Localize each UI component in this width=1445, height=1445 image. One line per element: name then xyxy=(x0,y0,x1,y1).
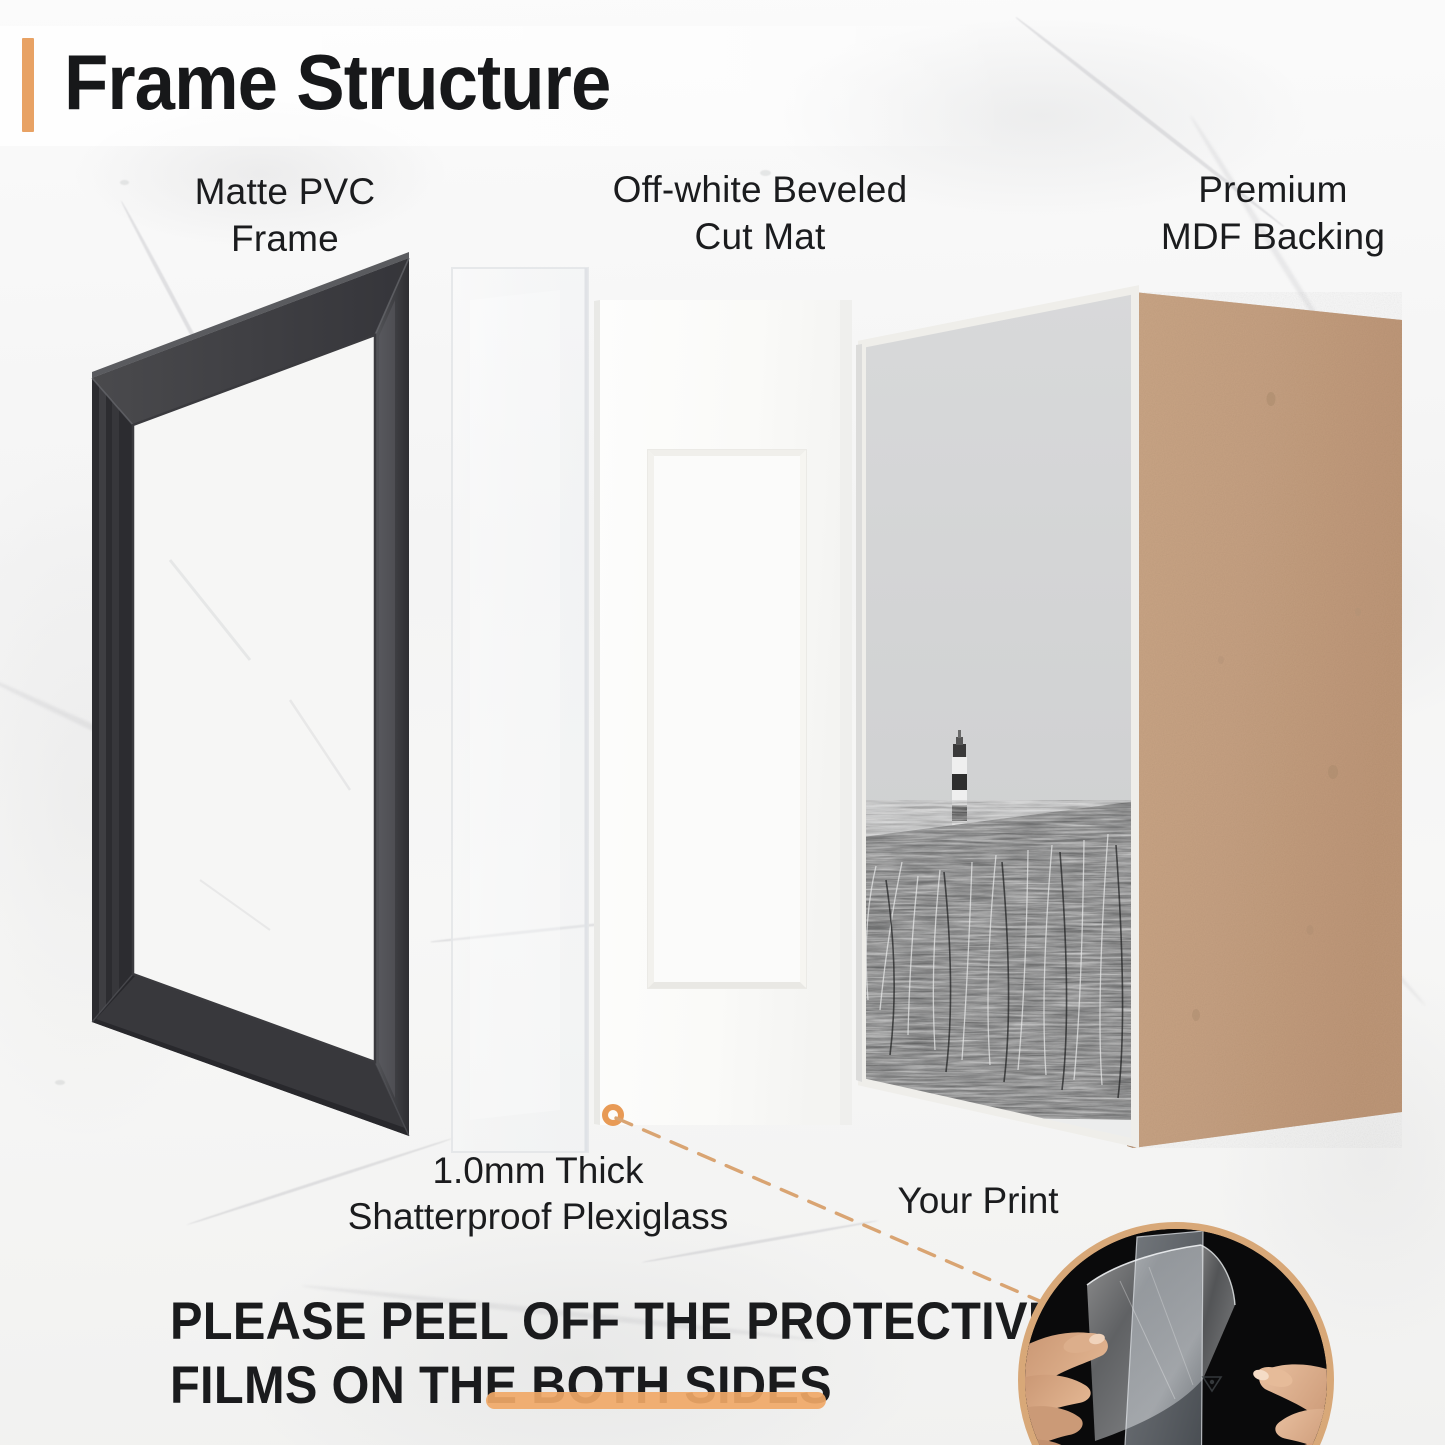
label-plexiglass: 1.0mm Thick Shatterproof Plexiglass xyxy=(278,1148,798,1240)
label-line-2: MDF Backing xyxy=(1108,213,1438,260)
label-line-1: Premium xyxy=(1108,166,1438,213)
product-infographic: Frame Structure Matte PVC Frame Off-whit… xyxy=(0,0,1445,1445)
layer-your-print xyxy=(855,280,1145,1170)
label-your-print: Your Print xyxy=(858,1178,1098,1224)
caption-line-1: PLEASE PEEL OFF THE PROTECTIVE xyxy=(170,1290,970,1354)
layer-cut-mat xyxy=(594,300,852,1125)
label-matte-pvc-frame: Matte PVC Frame xyxy=(140,168,430,262)
label-line-1: 1.0mm Thick xyxy=(278,1148,798,1194)
layer-mdf-backing xyxy=(1127,292,1402,1148)
label-line-1: Matte PVC xyxy=(140,168,430,215)
label-line-2: Shatterproof Plexiglass xyxy=(278,1194,798,1240)
layer-plexiglass xyxy=(452,268,588,1152)
page-title: Frame Structure xyxy=(64,30,610,134)
caption-highlight-underline xyxy=(486,1392,826,1409)
label-line-1: Off-white Beveled xyxy=(545,166,975,213)
title-accent-bar xyxy=(22,38,34,132)
label-line-2: Frame xyxy=(140,215,430,262)
label-mdf-backing: Premium MDF Backing xyxy=(1108,166,1438,260)
callout-marker-icon xyxy=(602,1104,624,1126)
label-line-2: Cut Mat xyxy=(545,213,975,260)
layer-pvc-frame xyxy=(92,252,409,1136)
label-cut-mat: Off-white Beveled Cut Mat xyxy=(545,166,975,260)
label-line-1: Your Print xyxy=(858,1178,1098,1224)
